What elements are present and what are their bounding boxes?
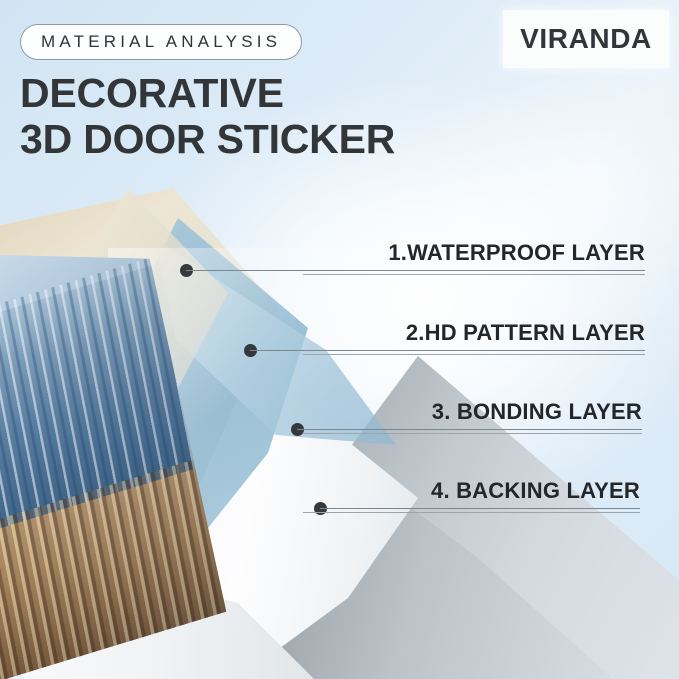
brand-logo: VIRANDA bbox=[503, 10, 669, 68]
headline-line-2: 3D DOOR STICKER bbox=[20, 116, 480, 162]
callout-leader-line-4 bbox=[320, 508, 640, 509]
callout-underline-3 bbox=[303, 433, 642, 434]
callout-leader-line-2 bbox=[250, 350, 645, 351]
callout-underline-1 bbox=[303, 274, 645, 275]
callout-underline-4 bbox=[303, 512, 640, 513]
callout-leader-line-3 bbox=[297, 429, 642, 430]
page-title: DECORATIVE 3D DOOR STICKER bbox=[20, 70, 480, 162]
callout-label-1: 1.WATERPROOF LAYER bbox=[388, 240, 645, 266]
headline-line-1: DECORATIVE bbox=[20, 70, 284, 116]
infographic-page: MATERIAL ANALYSIS DECORATIVE 3D DOOR STI… bbox=[0, 0, 679, 679]
eyebrow-label: MATERIAL ANALYSIS bbox=[41, 32, 281, 52]
callout-underline-2 bbox=[303, 354, 645, 355]
callout-label-2: 2.HD PATTERN LAYER bbox=[406, 320, 645, 346]
callout-label-3: 3. BONDING LAYER bbox=[432, 399, 642, 425]
eyebrow-badge: MATERIAL ANALYSIS bbox=[20, 24, 302, 60]
brand-name: VIRANDA bbox=[520, 23, 652, 55]
callout-label-4: 4. BACKING LAYER bbox=[431, 478, 640, 504]
callout-leader-line-1 bbox=[186, 270, 645, 271]
